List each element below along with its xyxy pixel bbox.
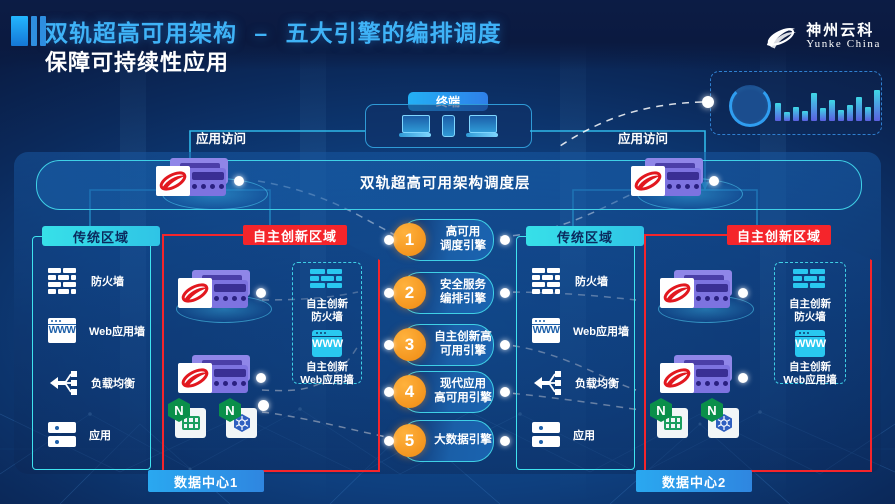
service-label: 应用 [573, 427, 595, 443]
bar-chart-icon [775, 83, 880, 121]
engine-connector-dot-right [500, 235, 510, 245]
service-label: Web应用墙 [573, 323, 629, 339]
application-icon [48, 422, 76, 448]
load-balancer-icon [48, 370, 78, 396]
nginx-kubernetes-icon[interactable]: N [223, 404, 257, 438]
nginx-app-icon[interactable]: N [172, 404, 206, 438]
engine-pill-2[interactable]: 2安全服务编排引擎 [400, 272, 494, 314]
bar-chart-bar [802, 111, 808, 121]
adc-appliance-icon [635, 158, 709, 198]
engine-connector-dot-left [384, 436, 394, 446]
donut-chart-icon [729, 85, 771, 127]
page-title-part2: 五大引擎的编排调度 [286, 20, 502, 46]
firewall-icon [532, 268, 562, 294]
workload-stack-2: N N [654, 404, 739, 438]
engine-label: 自主创新高可用引擎 [434, 331, 492, 358]
bar-chart-bar [775, 103, 781, 121]
service-label: 防火墙 [91, 273, 124, 289]
nginx-app-icon[interactable]: N [654, 404, 688, 438]
logo-text-cn: 神州云科 [806, 23, 881, 39]
engine-connector-dot-right [500, 436, 510, 446]
bar-chart-bar [793, 107, 799, 121]
engine-connector-dot-left [384, 288, 394, 298]
access-label-left: 应用访问 [196, 128, 246, 147]
subbox-label-line2: 防火墙 [775, 311, 845, 324]
engine-connector-dot-right [500, 288, 510, 298]
waf-icon: WWW [532, 318, 560, 343]
engine-label: 安全服务编排引擎 [434, 279, 492, 306]
workload-connector-dot [258, 400, 269, 411]
engine-pill-4[interactable]: 4现代应用高可用引擎 [400, 371, 494, 413]
datacenter-1-label: 数据中心1 [148, 470, 264, 492]
engine-number-badge: 1 [393, 223, 426, 256]
bigdata-connector-dot [702, 96, 714, 108]
engine-number-badge: 2 [393, 276, 426, 309]
swirl-logo-icon [156, 166, 190, 196]
company-logo: 神州云科 Yunke China [763, 22, 881, 52]
subbox-label-line1: 自主创新 [775, 298, 845, 311]
waf-icon: WWW [312, 330, 342, 357]
bigdata-visual-panel [710, 71, 882, 135]
datacenter-2-label: 数据中心2 [636, 470, 752, 492]
logo-text-en: Yunke China [806, 39, 881, 51]
service-row-lb-2[interactable]: 负载均衡 [532, 370, 619, 396]
bar-chart-bar [811, 93, 817, 121]
service-row-firewall-1[interactable]: 防火墙 [48, 268, 124, 294]
adc-appliance-icon [182, 355, 256, 395]
bar-chart-bar [874, 90, 880, 121]
service-label: 应用 [89, 427, 111, 443]
subbox-label-line2: 防火墙 [293, 311, 361, 324]
engine-label: 大数据引擎 [434, 434, 492, 448]
subbox-label-line2: Web应用墙 [293, 374, 361, 387]
service-row-firewall-2[interactable]: 防火墙 [532, 268, 608, 294]
application-icon [532, 422, 560, 448]
engine-label: 现代应用高可用引擎 [434, 378, 492, 405]
engine-pill-3[interactable]: 3自主创新高可用引擎 [400, 324, 494, 366]
firewall-icon [310, 269, 344, 293]
swirl-logo-icon [178, 363, 212, 393]
swirl-logo-icon [631, 166, 665, 196]
service-label: 负载均衡 [575, 375, 619, 391]
service-row-app-1[interactable]: 应用 [48, 422, 111, 448]
adc-appliance-icon [664, 355, 738, 395]
engine-connector-dot-left [384, 235, 394, 245]
firewall-icon [793, 269, 827, 293]
service-row-waf-1[interactable]: WWW Web应用墙 [48, 318, 145, 343]
engine-number-badge: 5 [393, 424, 426, 457]
traditional-zone-1-title: 传统区域 [42, 226, 160, 246]
page-subtitle: 保障可持续性应用 [45, 45, 229, 77]
adc-appliance-icon [182, 270, 256, 310]
engine-connector-dot-left [384, 340, 394, 350]
service-row-waf-2[interactable]: WWW Web应用墙 [532, 318, 629, 343]
service-label: 负载均衡 [91, 375, 135, 391]
bar-chart-bar [820, 108, 826, 121]
swirl-logo-icon [660, 363, 694, 393]
innovation-subbox-2: 自主创新 防火墙 WWW 自主创新 Web应用墙 [774, 262, 846, 384]
innovation-zone-2-title: 自主创新区域 [727, 225, 831, 245]
bar-chart-bar [829, 100, 835, 121]
service-row-lb-1[interactable]: 负载均衡 [48, 370, 135, 396]
innovation-zone-1-title: 自主创新区域 [243, 225, 347, 245]
subbox-label-line2: Web应用墙 [775, 374, 845, 387]
load-balancer-icon [532, 370, 562, 396]
engine-number-badge: 4 [393, 375, 426, 408]
engine-label: 高可用调度引擎 [434, 226, 492, 253]
phone-icon [442, 115, 455, 137]
swirl-logo-icon [660, 278, 694, 308]
engine-connector-dot-right [500, 387, 510, 397]
engine-connector-dot-left [384, 387, 394, 397]
workload-stack-1: N N [172, 404, 257, 438]
waf-icon: WWW [795, 330, 825, 357]
bar-chart-bar [865, 107, 871, 121]
laptop-icon [399, 115, 431, 137]
scheduling-layer-label: 双轨超高可用架构调度层 [360, 172, 531, 193]
adc-appliance-icon [160, 158, 234, 198]
title-accent-bars [11, 16, 46, 46]
bar-chart-bar [838, 110, 844, 121]
bar-chart-bar [784, 112, 790, 121]
engine-connector-dot-right [500, 340, 510, 350]
traditional-zone-2-title: 传统区域 [526, 226, 644, 246]
firewall-icon [48, 268, 78, 294]
service-label: 防火墙 [575, 273, 608, 289]
adc-appliance-icon [664, 270, 738, 310]
subbox-label-line1: 自主创新 [293, 298, 361, 311]
access-label-right: 应用访问 [618, 128, 668, 147]
engine-pill-1[interactable]: 1高可用调度引擎 [400, 219, 494, 261]
innovation-subbox-1: 自主创新 防火墙 WWW 自主创新 Web应用墙 [292, 262, 362, 384]
swirl-logo-icon [178, 278, 212, 308]
swirl-logo-icon [763, 22, 799, 52]
service-row-app-2[interactable]: 应用 [532, 422, 595, 448]
engine-pill-5[interactable]: 5大数据引擎 [400, 420, 494, 462]
engine-number-badge: 3 [393, 328, 426, 361]
nginx-kubernetes-icon[interactable]: N [705, 404, 739, 438]
slide-root: 双轨超高可用架构 – 五大引擎的编排调度 保障可持续性应用 神州云科 Yunke… [0, 0, 895, 504]
service-label: Web应用墙 [89, 323, 145, 339]
subbox-label-line1: 自主创新 [775, 361, 845, 374]
bar-chart-bar [856, 97, 862, 121]
laptop-icon [466, 115, 498, 137]
page-title-dash: – [244, 20, 278, 46]
subbox-label-line1: 自主创新 [293, 361, 361, 374]
terminal-devices-box [365, 104, 532, 148]
page-title-part1: 双轨超高可用架构 [45, 20, 237, 46]
waf-icon: WWW [48, 318, 76, 343]
page-title: 双轨超高可用架构 – 五大引擎的编排调度 [45, 14, 502, 48]
bar-chart-bar [847, 105, 853, 121]
